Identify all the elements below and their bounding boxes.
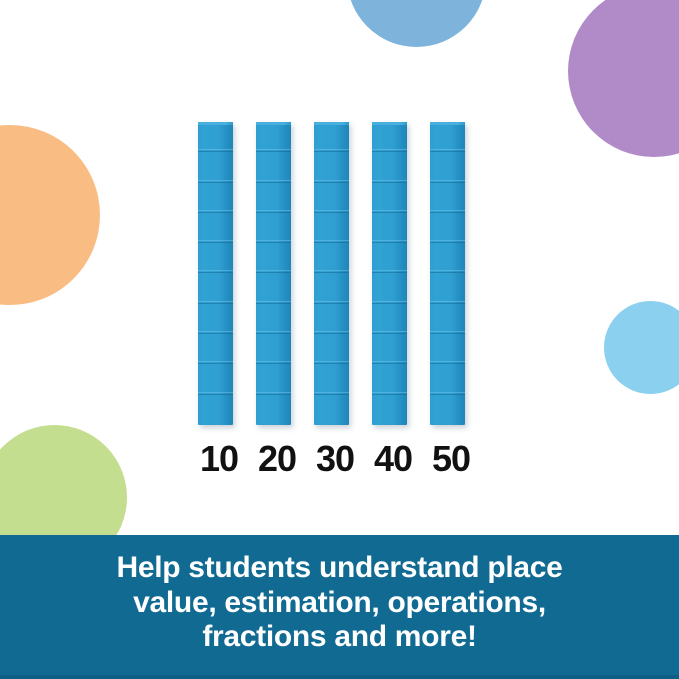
rod-segment: [372, 334, 407, 364]
rod-body: [372, 122, 407, 425]
rod-segment: [256, 243, 291, 273]
rod-segment: [198, 152, 233, 182]
purple-circle-decoration: [568, 0, 679, 157]
base-ten-rod: [314, 122, 349, 425]
rod-labels-row: 10 20 30 40 50: [190, 437, 500, 481]
rod-segment: [430, 364, 465, 394]
rod-label-20: 20: [248, 437, 306, 481]
rod-segment: [372, 395, 407, 425]
rod-segment: [198, 243, 233, 273]
rod-segment: [198, 395, 233, 425]
base-ten-rods-group: [198, 122, 498, 425]
rod-segment: [430, 274, 465, 304]
rod-segment: [372, 274, 407, 304]
rod-segment: [256, 213, 291, 243]
rod-segment: [256, 334, 291, 364]
base-ten-rod: [430, 122, 465, 425]
rod-segment: [198, 213, 233, 243]
rod-segment: [198, 122, 233, 152]
rod-segment: [430, 243, 465, 273]
base-ten-rod: [256, 122, 291, 425]
rod-segment: [372, 122, 407, 152]
blue-circle-decoration: [347, 0, 486, 47]
banner-headline: Help students understand place value, es…: [60, 551, 620, 655]
rod-label-50: 50: [422, 437, 480, 481]
rod-segment: [314, 395, 349, 425]
banner-line-2: value, estimation, operations,: [60, 586, 620, 621]
rod-segment: [198, 364, 233, 394]
rod-segment: [198, 334, 233, 364]
rod-segment: [256, 152, 291, 182]
rod-label-30: 30: [306, 437, 364, 481]
rod-segment: [430, 395, 465, 425]
rod-body: [256, 122, 291, 425]
rod-segment: [256, 122, 291, 152]
rod-segment: [314, 364, 349, 394]
rod-segment: [430, 304, 465, 334]
base-ten-rod: [372, 122, 407, 425]
rod-segment: [430, 183, 465, 213]
rod-segment: [256, 304, 291, 334]
sky-blue-circle-decoration: [604, 301, 679, 394]
promo-graphic: 10 20 30 40 50 Help students understand …: [0, 0, 679, 679]
rod-segment: [314, 213, 349, 243]
rod-segment: [314, 304, 349, 334]
rod-segment: [314, 122, 349, 152]
rod-label-40: 40: [364, 437, 422, 481]
rod-segment: [198, 183, 233, 213]
rod-segment: [314, 334, 349, 364]
rod-segment: [430, 334, 465, 364]
banner-line-3: fractions and more!: [60, 620, 620, 655]
rod-segment: [430, 152, 465, 182]
rod-body: [430, 122, 465, 425]
rod-label-10: 10: [190, 437, 248, 481]
rod-segment: [430, 122, 465, 152]
banner-line-1: Help students understand place: [60, 551, 620, 586]
orange-circle-decoration: [0, 125, 100, 305]
rod-segment: [372, 243, 407, 273]
rod-body: [198, 122, 233, 425]
rod-segment: [430, 213, 465, 243]
rod-segment: [256, 364, 291, 394]
rod-segment: [314, 183, 349, 213]
rod-segment: [256, 274, 291, 304]
rod-segment: [314, 243, 349, 273]
rod-segment: [372, 213, 407, 243]
rod-segment: [314, 274, 349, 304]
rod-segment: [256, 395, 291, 425]
bottom-banner: Help students understand place value, es…: [0, 535, 679, 679]
rod-segment: [372, 304, 407, 334]
rod-segment: [372, 183, 407, 213]
rod-segment: [198, 304, 233, 334]
rod-segment: [256, 183, 291, 213]
base-ten-rod: [198, 122, 233, 425]
rod-segment: [198, 274, 233, 304]
rod-segment: [314, 152, 349, 182]
rod-body: [314, 122, 349, 425]
rod-segment: [372, 152, 407, 182]
rod-segment: [372, 364, 407, 394]
